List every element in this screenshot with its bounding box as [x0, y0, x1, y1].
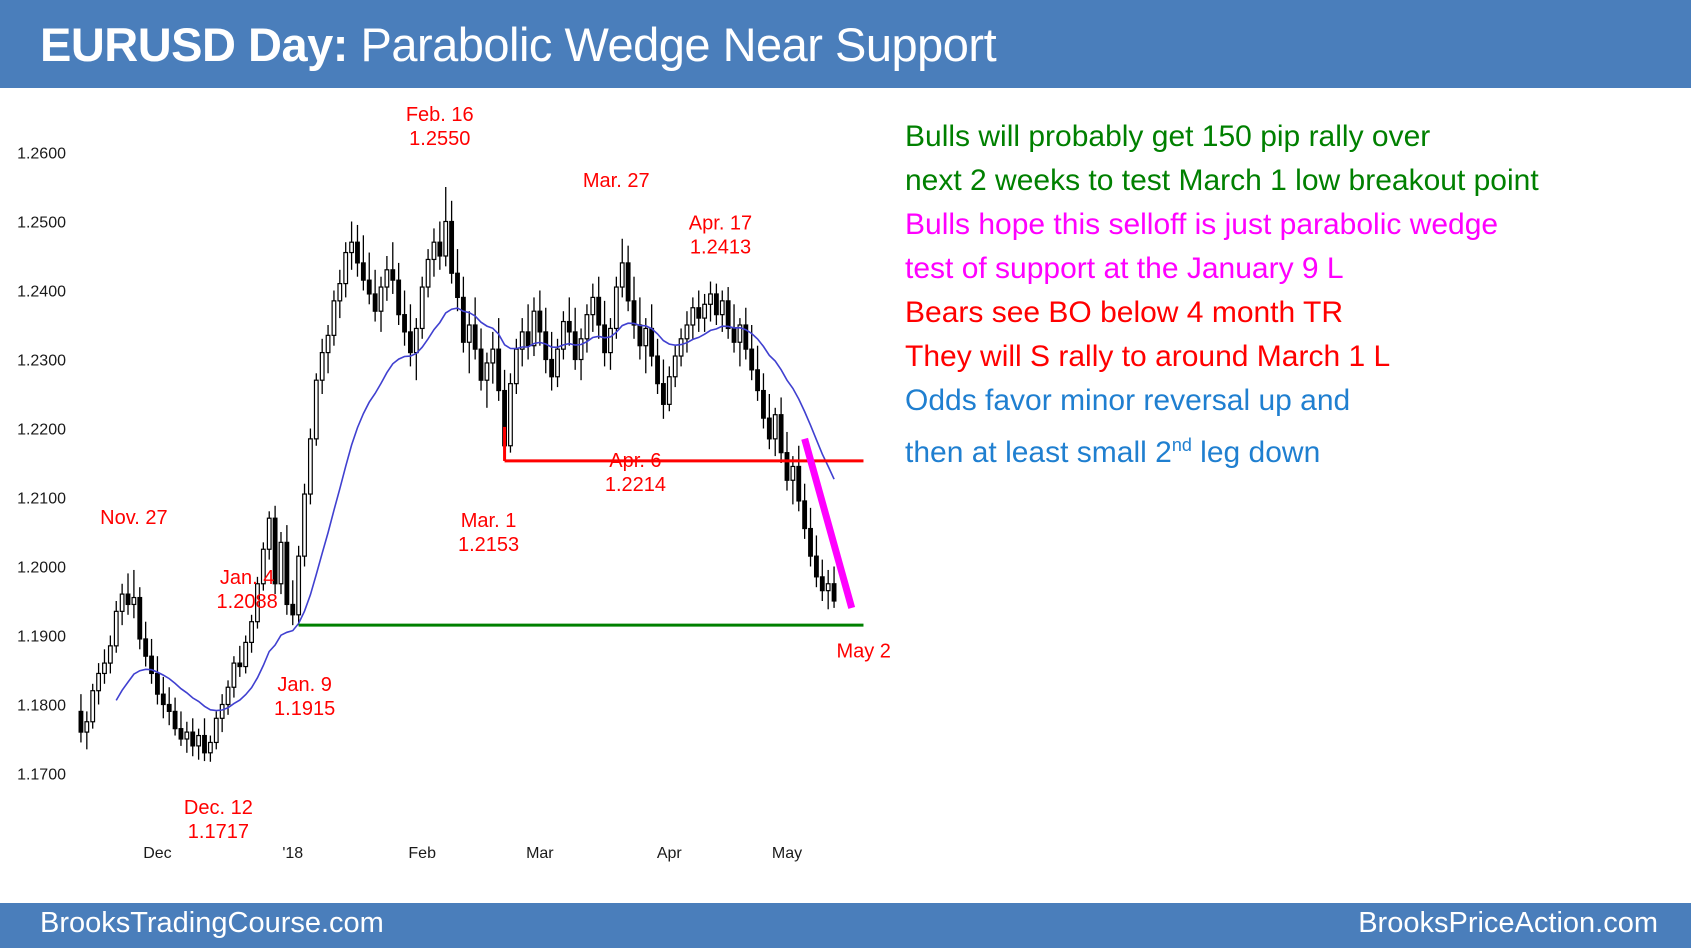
chart-annotation-label: Apr. 17	[689, 213, 752, 235]
commentary-block: Bulls will probably get 150 pip rally ov…	[905, 115, 1685, 475]
candle-body	[467, 325, 471, 342]
candle-body	[556, 349, 560, 377]
candle-body	[609, 328, 613, 352]
candle-body	[773, 415, 777, 439]
candle-body	[138, 598, 142, 639]
candle-body	[297, 556, 301, 615]
candle-body	[191, 732, 195, 746]
candle-body	[156, 673, 160, 694]
chart-annotation-label: Feb. 16	[406, 104, 474, 126]
commentary-line: Odds favor minor reversal up and	[905, 379, 1685, 423]
chart-annotation-label: 1.2153	[458, 534, 519, 556]
candle-body	[144, 639, 148, 656]
candle-body	[326, 335, 330, 352]
candle-body	[538, 311, 542, 332]
chart-annotation-label: 1.2214	[605, 474, 666, 496]
candle-body	[379, 287, 383, 311]
candle-body	[161, 694, 165, 704]
x-axis-tick-label: Dec	[143, 845, 171, 862]
chart-annotation-label: 1.2088	[217, 591, 278, 613]
candle-body	[444, 222, 448, 257]
candle-body	[226, 687, 230, 704]
y-axis-tick-label: 1.2600	[17, 146, 66, 163]
candle-body	[762, 391, 766, 419]
candlestick-chart-svg: 1.26001.25001.24001.23001.22001.21001.20…	[0, 88, 905, 903]
candle-body	[462, 297, 466, 342]
y-axis-tick-label: 1.2400	[17, 284, 66, 301]
candle-body	[409, 332, 413, 353]
candle-body	[220, 705, 224, 719]
page-title-symbol: EURUSD Day:	[40, 18, 348, 71]
x-axis: Dec'18FebMarAprMay	[143, 845, 802, 862]
candle-body	[703, 304, 707, 318]
candle-body	[232, 663, 236, 687]
candle-body	[756, 370, 760, 391]
candle-body	[697, 308, 701, 318]
commentary-line: They will S rally to around March 1 L	[905, 335, 1685, 379]
candle-body	[632, 301, 636, 325]
candle-body	[456, 273, 460, 297]
candle-body	[209, 742, 213, 752]
candle-body	[626, 263, 630, 301]
candle-body	[267, 518, 271, 549]
y-axis-tick-label: 1.1900	[17, 629, 66, 646]
candle-body	[473, 325, 477, 349]
y-axis-tick-label: 1.1800	[17, 698, 66, 715]
candle-body	[726, 301, 730, 329]
candle-body	[132, 598, 136, 605]
candle-body	[479, 349, 483, 380]
candle-body	[79, 711, 83, 732]
chart-annotation-label: May 2	[836, 640, 890, 662]
candle-body	[309, 439, 313, 494]
y-axis-tick-label: 1.2200	[17, 422, 66, 439]
candle-body	[97, 673, 101, 690]
y-axis: 1.26001.25001.24001.23001.22001.21001.20…	[17, 146, 66, 784]
candle-body	[320, 353, 324, 381]
candle-body	[179, 729, 183, 739]
candle-body	[291, 604, 295, 614]
chart-annotation-label: Mar. 1	[461, 510, 517, 532]
chart-annotation-label: Jan. 4	[220, 567, 274, 589]
candle-body	[438, 242, 442, 256]
footer-link-trading-course[interactable]: BrooksTradingCourse.com	[40, 907, 384, 940]
commentary-line: test of support at the January 9 L	[905, 247, 1685, 291]
candle-body	[373, 294, 377, 311]
candle-body	[279, 542, 283, 583]
y-axis-tick-label: 1.2500	[17, 215, 66, 232]
page-header: EURUSD Day: Parabolic Wedge Near Support	[0, 0, 1691, 88]
chart-annotation-label: Jan. 9	[277, 674, 331, 696]
candle-body	[126, 594, 130, 604]
y-axis-tick-label: 1.2300	[17, 353, 66, 370]
commentary-line: then at least small 2nd leg down	[905, 423, 1685, 475]
candle-body	[615, 287, 619, 328]
candle-body	[167, 705, 171, 712]
chart-annotation-label: Dec. 12	[184, 797, 253, 819]
chart-annotation-label: Apr. 6	[609, 450, 661, 472]
page-footer: BrooksTradingCourse.com BrooksPriceActio…	[0, 903, 1691, 948]
candle-body	[414, 328, 418, 352]
candle-body	[603, 325, 607, 353]
candle-body	[238, 663, 242, 666]
candle-body	[820, 577, 824, 591]
candle-body	[197, 736, 201, 746]
candle-body	[350, 242, 354, 252]
candle-body	[779, 415, 783, 453]
page-title-subtitle: Parabolic Wedge Near Support	[348, 18, 996, 71]
x-axis-tick-label: Mar	[526, 845, 554, 862]
candle-body	[691, 308, 695, 325]
candle-body	[332, 301, 336, 336]
candle-body	[391, 270, 395, 280]
x-axis-tick-label: '18	[282, 845, 303, 862]
candle-body	[832, 584, 836, 601]
candle-body	[544, 332, 548, 360]
candle-body	[485, 363, 489, 380]
chart-page: EURUSD Day: Parabolic Wedge Near Support…	[0, 0, 1691, 948]
candle-body	[715, 294, 719, 315]
candle-body	[85, 722, 89, 732]
candle-body	[515, 349, 519, 384]
candle-body	[397, 280, 401, 315]
chart-annotation-label: 1.2550	[409, 128, 470, 150]
candle-body	[314, 380, 318, 439]
candle-body	[173, 711, 177, 728]
candle-body	[420, 287, 424, 328]
candles-group	[79, 187, 836, 762]
candle-body	[303, 494, 307, 556]
chart-annotation-label: Nov. 27	[100, 507, 167, 529]
x-axis-tick-label: Feb	[408, 845, 436, 862]
commentary-line: Bears see BO below 4 month TR	[905, 291, 1685, 335]
commentary-line: Bulls hope this selloff is just paraboli…	[905, 203, 1685, 247]
candle-body	[768, 418, 772, 439]
candle-body	[791, 466, 795, 480]
candle-body	[732, 328, 736, 342]
candle-body	[638, 325, 642, 346]
candle-body	[244, 642, 248, 666]
candle-body	[362, 263, 366, 280]
candle-body	[103, 663, 107, 673]
candle-body	[203, 736, 207, 753]
candle-body	[803, 501, 807, 529]
candle-body	[509, 384, 513, 446]
y-axis-tick-label: 1.2000	[17, 560, 66, 577]
candle-body	[91, 691, 95, 722]
candle-body	[550, 360, 554, 377]
candle-body	[750, 349, 754, 370]
candle-body	[491, 349, 495, 363]
candle-body	[185, 732, 189, 739]
commentary-line: next 2 weeks to test March 1 low breakou…	[905, 159, 1685, 203]
page-title: EURUSD Day: Parabolic Wedge Near Support	[0, 17, 996, 72]
x-axis-tick-label: Apr	[657, 845, 683, 862]
candle-body	[344, 253, 348, 284]
candle-body	[285, 542, 289, 604]
candle-body	[120, 594, 124, 611]
y-axis-tick-label: 1.1700	[17, 767, 66, 784]
candle-body	[567, 322, 571, 332]
candle-body	[685, 325, 689, 339]
candle-body	[720, 301, 724, 315]
chart-annotation-label: 1.2413	[690, 237, 751, 259]
candle-body	[426, 259, 430, 287]
candle-body	[597, 297, 601, 325]
candle-body	[114, 611, 118, 646]
candle-body	[367, 280, 371, 294]
candle-body	[644, 328, 648, 345]
candle-body	[785, 453, 789, 481]
footer-link-price-action[interactable]: BrooksPriceAction.com	[1358, 907, 1658, 940]
x-axis-tick-label: May	[772, 845, 802, 862]
candle-body	[667, 377, 671, 405]
candle-body	[673, 356, 677, 377]
candle-body	[450, 222, 454, 274]
candle-body	[679, 339, 683, 356]
chart-annotation-label: 1.1915	[274, 698, 335, 720]
candle-body	[579, 339, 583, 360]
commentary-line: Bulls will probably get 150 pip rally ov…	[905, 115, 1685, 159]
candle-body	[385, 270, 389, 287]
candle-body	[809, 529, 813, 557]
candle-body	[585, 315, 589, 339]
candle-body	[497, 349, 501, 390]
chart-annotation-label: 1.1717	[188, 821, 249, 843]
candle-body	[250, 622, 254, 643]
candle-body	[109, 646, 113, 663]
candle-body	[591, 297, 595, 314]
level-lines	[299, 427, 864, 625]
chart-annotations: Nov. 27Dec. 121.1717Jan. 41.2088Jan. 91.…	[100, 104, 891, 843]
candle-body	[650, 328, 654, 356]
candle-body	[815, 556, 819, 577]
price-chart: 1.26001.25001.24001.23001.22001.21001.20…	[0, 88, 905, 903]
chart-annotation-label: Mar. 27	[583, 170, 650, 192]
candle-body	[826, 584, 830, 591]
candle-body	[432, 242, 436, 259]
candle-body	[662, 384, 666, 405]
candle-body	[797, 466, 801, 501]
candle-body	[526, 332, 530, 346]
candle-body	[620, 263, 624, 287]
candle-body	[656, 356, 660, 384]
candle-body	[338, 284, 342, 301]
candle-body	[214, 718, 218, 742]
candle-body	[532, 311, 536, 346]
candle-body	[403, 315, 407, 332]
y-axis-tick-label: 1.2100	[17, 491, 66, 508]
candle-body	[709, 294, 713, 304]
candle-body	[356, 242, 360, 263]
